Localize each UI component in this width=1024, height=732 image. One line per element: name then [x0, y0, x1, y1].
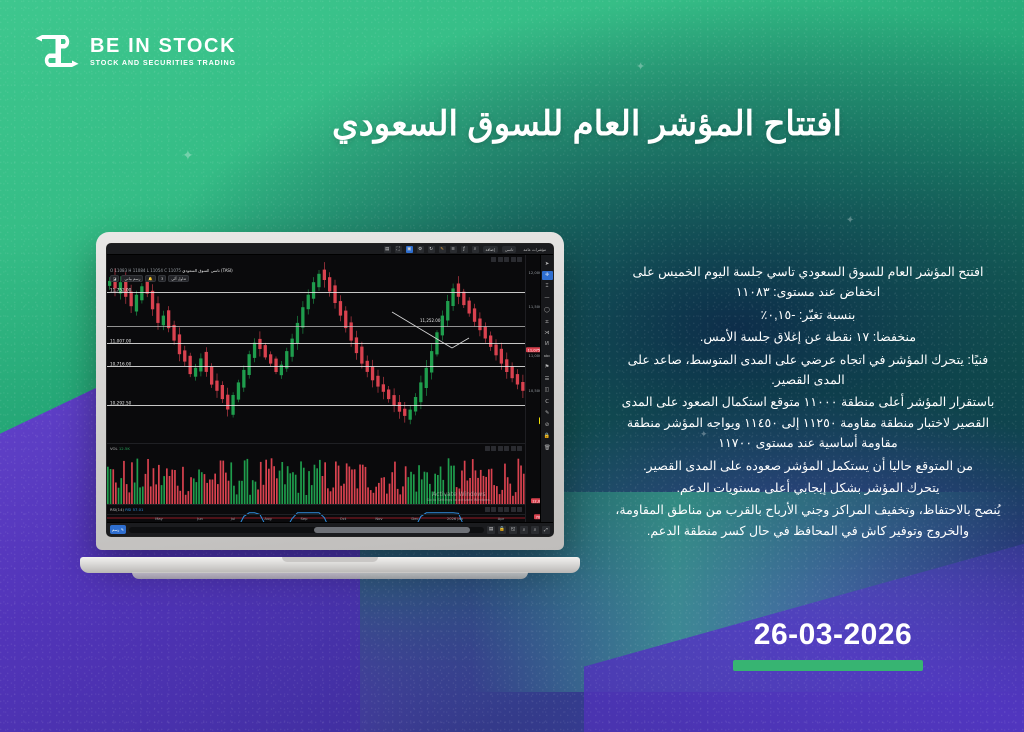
article-body: افتتح المؤشر العام للسوق السعودي تاسي جل…	[612, 262, 1004, 543]
refresh-icon[interactable]: ↻	[428, 246, 435, 253]
laptop-screen: ▤ ⛶ ▣ ⚙ ↻ ✎ ≡ ƒ ⌕ إضافة تاسي مؤشرات عامة	[106, 243, 554, 537]
chip-chart-icon[interactable]: ◪	[110, 275, 119, 282]
hide-drawings-icon[interactable]: ⊘	[542, 420, 553, 429]
annotation-gridline	[107, 326, 525, 327]
menu-item-add[interactable]: إضافة	[483, 246, 498, 253]
chart-annotation-label: 11,252.00	[420, 318, 440, 323]
brand-name: BE IN STOCK	[90, 36, 236, 56]
quote-header: (TASI) تاسي السوق السعودي O 11083 H 1108…	[110, 268, 233, 273]
zoom-in-icon[interactable]: ⌕	[531, 526, 539, 534]
be-in-stock-arrows-logo-icon	[34, 28, 80, 74]
time-tick: Apr	[498, 517, 504, 521]
volume-pane-value: 12.5K	[119, 446, 130, 451]
magnet-icon[interactable]: ◱	[509, 526, 517, 534]
time-tick: Oct	[340, 517, 346, 521]
price-label-mid: 11,007.00	[110, 339, 131, 344]
pencil-icon: ✎	[121, 528, 124, 532]
volume-pane[interactable]: VOL 12.5K	[107, 444, 525, 504]
brush-tool-icon[interactable]: ✎	[542, 409, 553, 418]
sparkle-icon: ✦	[636, 62, 645, 73]
draw-tool-button[interactable]: رسم ✎	[110, 525, 126, 534]
flag-tool-icon[interactable]: ⚑	[542, 363, 553, 372]
laptop-mockup: ▤ ⛶ ▣ ⚙ ↻ ✎ ≡ ƒ ⌕ إضافة تاسي مؤشرات عامة	[80, 232, 580, 587]
sparkle-icon: ✦	[846, 216, 854, 226]
article-paragraph: يُنصح بالاحتفاظ، وتخفيف المراكز وجني الأ…	[612, 500, 1004, 541]
price-gridline	[107, 292, 525, 293]
time-scrollbar-thumb[interactable]	[314, 527, 470, 533]
pane-ctrl-icon[interactable]	[498, 446, 503, 451]
menu-item-tasi[interactable]: تاسي	[502, 246, 517, 253]
chip-auto-trade-label[interactable]: تداول آلي	[168, 275, 189, 282]
chart-canvas[interactable]: (TASI) تاسي السوق السعودي O 11083 H 1108…	[107, 255, 525, 522]
pitchfork-tool-icon[interactable]: И	[542, 340, 553, 349]
gann-tool-icon[interactable]: ェ	[542, 317, 553, 326]
terminal-bottom-bar: رسم ✎ ▤ 🔒 ◱ ⌕ ⌕ ⤢	[107, 522, 553, 536]
compare-icon[interactable]: ≡	[450, 246, 457, 253]
pane-controls[interactable]	[485, 446, 523, 451]
pane-ctrl-icon[interactable]	[485, 507, 490, 512]
pane-ctrl-icon[interactable]	[504, 257, 509, 262]
ruler-icon[interactable]: ▤	[487, 526, 495, 534]
price-pane[interactable]: 11,752.00 11,007.00 10,716.00 10,292.50 …	[107, 255, 525, 443]
pattern-tool-icon[interactable]: ◫	[542, 386, 553, 395]
article-paragraph: منخفضا: ١٧ نقطة عن إغلاق جلسة الأمس.	[612, 327, 1004, 347]
lock-icon[interactable]: 🔒	[498, 526, 506, 534]
rsi-pane-label: RSI(14)	[110, 507, 124, 512]
camera-icon[interactable]: ▣	[406, 246, 413, 253]
pane-controls[interactable]	[485, 507, 523, 512]
time-tick: Jun	[197, 517, 203, 521]
page-title: افتتاح المؤشر العام للسوق السعودي	[332, 104, 842, 144]
time-tick: Dec	[411, 517, 418, 521]
article-paragraph: بنسبة تغيّر: -٠,١٥٪	[612, 305, 1004, 325]
bell-icon[interactable]: 🔔	[145, 275, 156, 282]
quote-symbol: (TASI) تاسي	[211, 268, 233, 273]
pane-ctrl-icon[interactable]	[511, 446, 516, 451]
pane-ctrl-icon[interactable]	[511, 507, 516, 512]
drawing-tool-rail[interactable]: ➤ ✛ ⌶ — ◯ ェ ⋊ И abc ⚑ ☰ ◫ C ✎ ⊘ 🔒 🗑	[540, 255, 553, 522]
candlestick-series	[107, 255, 547, 443]
pane-ctrl-icon[interactable]	[504, 446, 509, 451]
fib-tool-icon[interactable]: ⋊	[542, 328, 553, 337]
volume-pane-header: VOL 12.5K	[110, 446, 130, 451]
pane-ctrl-icon[interactable]	[491, 257, 496, 262]
draw-tool-label: رسم	[112, 528, 119, 532]
pane-ctrl-icon[interactable]	[491, 446, 496, 451]
article-paragraph: من المتوقع حاليا أن يستكمل المؤشر صعوده …	[612, 456, 1004, 476]
indicator-icon[interactable]: ƒ	[461, 246, 468, 253]
volume-series	[107, 444, 547, 504]
article-paragraph: يتحرك المؤشر بشكل إيجابي أعلى مستويات ال…	[612, 478, 1004, 498]
time-tick: Jul	[231, 517, 235, 521]
settings-icon[interactable]: ⚙	[417, 246, 424, 253]
pane-ctrl-icon[interactable]	[504, 507, 509, 512]
chart-chip-group: ◪ رسم بياني 🔔 3 تداول آلي	[110, 275, 189, 282]
time-axis: May Jun Jul Aug Sep Oct Nov Dec 2026 Jan…	[107, 514, 525, 522]
pane-ctrl-icon[interactable]	[498, 257, 503, 262]
date-underline-rule	[733, 660, 923, 671]
pane-ctrl-icon[interactable]	[498, 507, 503, 512]
search-icon[interactable]: ⌕	[472, 246, 479, 253]
delete-drawings-icon[interactable]: 🗑	[542, 443, 553, 452]
price-label-low: 10,716.00	[110, 362, 131, 367]
laptop-base	[80, 557, 580, 573]
pane-ctrl-icon[interactable]	[517, 507, 522, 512]
chip-chart-label[interactable]: رسم بياني	[121, 275, 143, 282]
crosshair-tool-icon[interactable]: ✛	[542, 271, 553, 280]
article-paragraph: فنيًا: يتحرك المؤشر في اتجاه عرضي على ال…	[612, 350, 1004, 391]
time-scrollbar[interactable]	[129, 527, 484, 533]
time-tick: Nov	[375, 517, 382, 521]
alert-icon[interactable]: ✎	[439, 246, 446, 253]
price-gridline	[107, 405, 525, 406]
price-gridline	[107, 343, 525, 344]
time-tick: May	[155, 517, 163, 521]
cursor-tool-icon[interactable]: ➤	[542, 259, 553, 268]
laptop-lid: ▤ ⛶ ▣ ⚙ ↻ ✎ ≡ ƒ ⌕ إضافة تاسي مؤشرات عامة	[96, 232, 564, 550]
brand-tagline: STOCK AND SECURITIES TRADING	[90, 59, 236, 66]
reset-zoom-icon[interactable]: ⤢	[542, 526, 550, 534]
magnet-tool-icon[interactable]: C	[542, 397, 553, 406]
rsi-pane-value: RSI 57.01	[125, 507, 143, 512]
pane-ctrl-icon[interactable]	[485, 446, 490, 451]
quote-ohlc: O 11083 H 11084 L 11054 C 11075	[110, 268, 181, 273]
article-paragraph: باستقرار المؤشر أعلى منطقة ١١٠٠٠ متوقع ا…	[612, 392, 1004, 453]
trading-terminal-app: ▤ ⛶ ▣ ⚙ ↻ ✎ ≡ ƒ ⌕ إضافة تاسي مؤشرات عامة	[107, 244, 553, 536]
chip-cart-count[interactable]: 3	[158, 275, 166, 282]
sparkle-icon: ✦	[182, 148, 194, 162]
pane-ctrl-icon[interactable]	[511, 257, 516, 262]
rsi-pane-header: RSI(14) RSI 57.01	[110, 507, 143, 512]
laptop-foot	[132, 572, 528, 579]
volume-pane-label: VOL	[110, 446, 118, 451]
price-label-bottom: 10,292.50	[110, 401, 131, 406]
fullscreen-icon[interactable]: ⛶	[395, 246, 402, 253]
brand-logo: BE IN STOCK STOCK AND SECURITIES TRADING	[34, 28, 236, 74]
measure-tool-icon[interactable]: ☰	[542, 374, 553, 383]
ellipse-tool-icon[interactable]: ◯	[542, 305, 553, 314]
terminal-toolbar: ▤ ⛶ ▣ ⚙ ↻ ✎ ≡ ƒ ⌕ إضافة تاسي مؤشرات عامة	[107, 244, 553, 255]
time-tick: 2026 Jan	[447, 517, 463, 521]
pane-ctrl-icon[interactable]	[491, 507, 496, 512]
date-block: 26-03-2026	[733, 620, 933, 671]
publication-date: 26-03-2026	[733, 620, 933, 650]
quote-market: السوق السعودي	[182, 268, 209, 273]
zoom-out-icon[interactable]: ⌕	[520, 526, 528, 534]
lock-drawings-icon[interactable]: 🔒	[542, 432, 553, 441]
article-paragraph: افتتح المؤشر العام للسوق السعودي تاسي جل…	[612, 262, 1004, 303]
horizontal-line-tool-icon[interactable]: —	[542, 294, 553, 303]
trend-line-tool-icon[interactable]: ⌶	[542, 282, 553, 291]
price-label-high: 11,752.00	[110, 288, 131, 293]
text-tool-icon[interactable]: abc	[542, 351, 553, 360]
time-tick: Sep	[301, 517, 308, 521]
pane-controls[interactable]	[491, 257, 522, 262]
pane-ctrl-icon[interactable]	[517, 446, 522, 451]
price-gridline	[107, 366, 525, 367]
time-tick: Aug	[264, 517, 271, 521]
terminal-title: مؤشرات عامة	[520, 246, 549, 253]
layout-icon[interactable]: ▤	[384, 246, 391, 253]
pane-ctrl-icon[interactable]	[517, 257, 522, 262]
